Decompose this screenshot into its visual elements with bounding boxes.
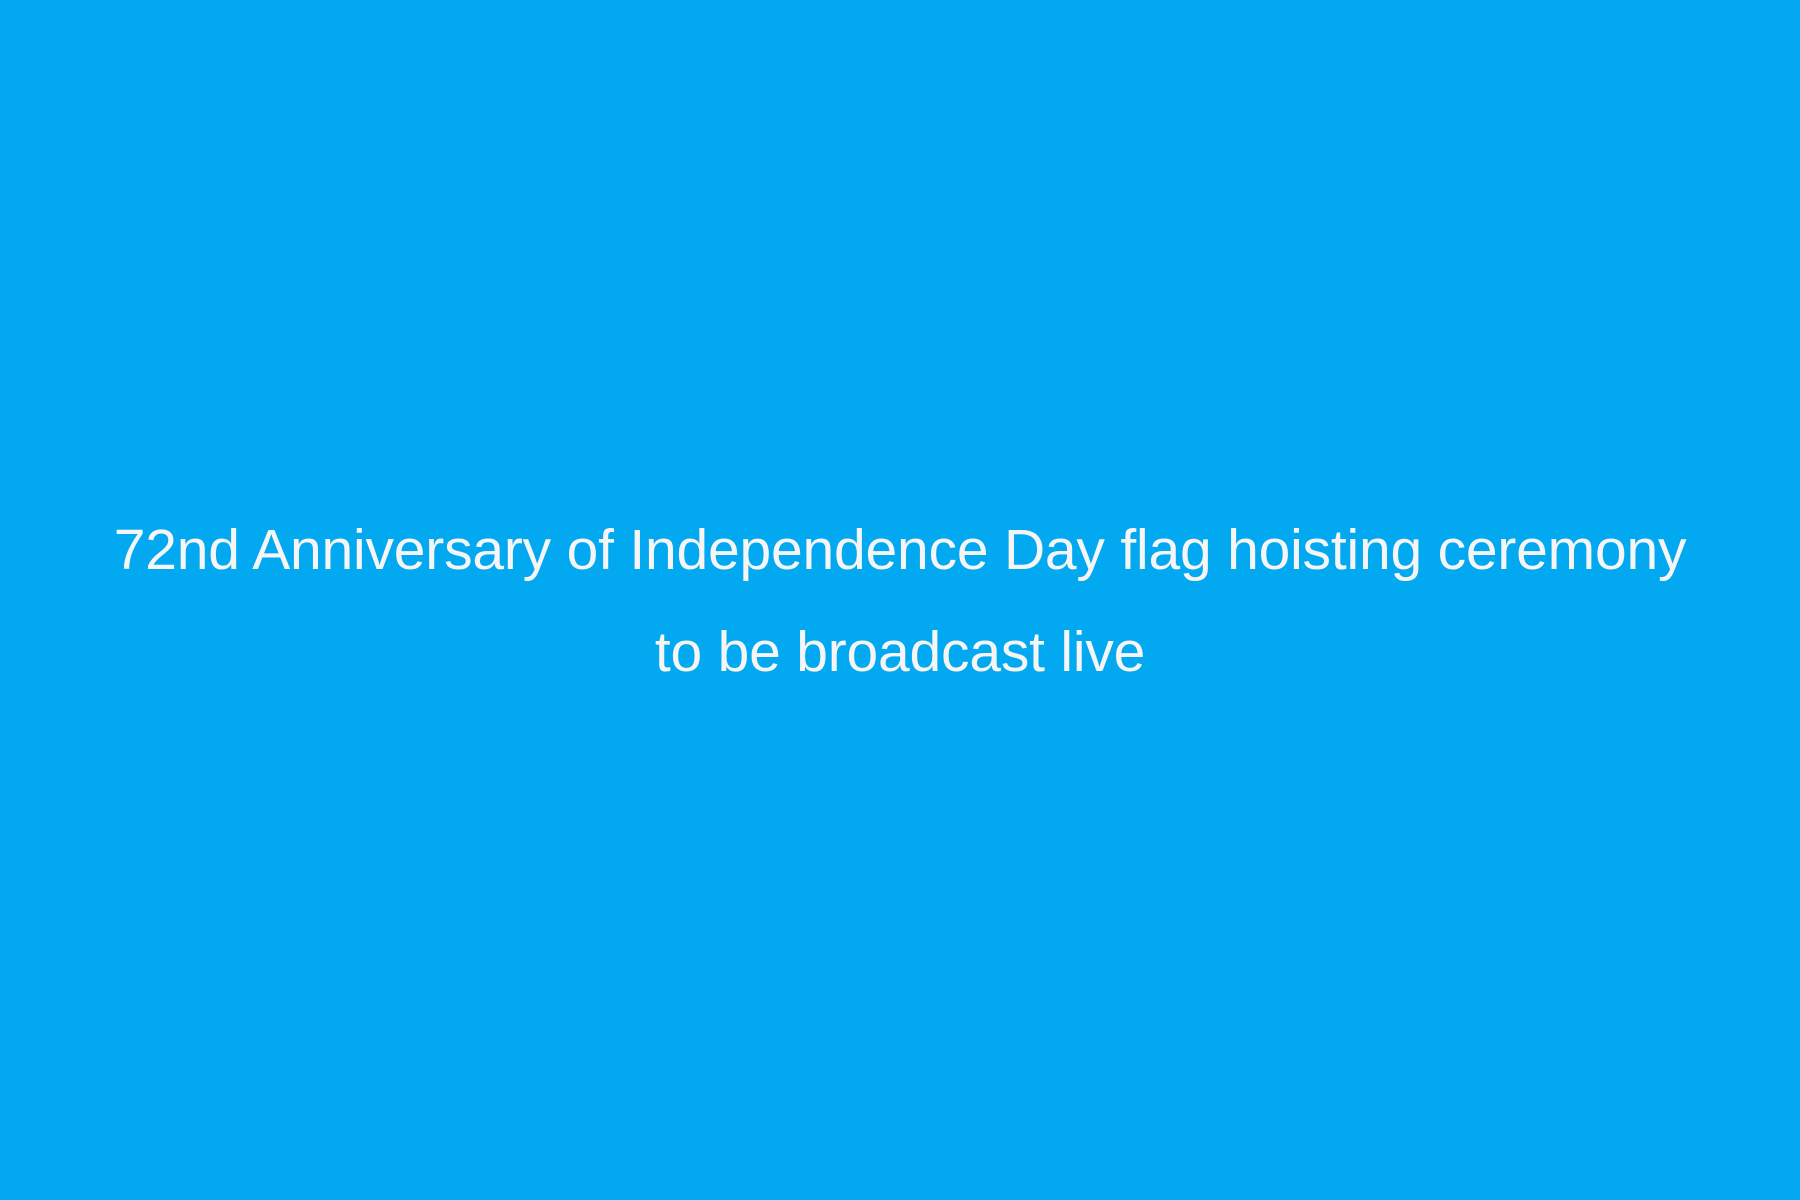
headline-line-2: to be broadcast live bbox=[100, 601, 1700, 703]
headline-line-1: 72nd Anniversary of Independence Day fla… bbox=[100, 499, 1700, 601]
headline-text-block: 72nd Anniversary of Independence Day fla… bbox=[100, 499, 1700, 703]
headline-banner: 72nd Anniversary of Independence Day fla… bbox=[0, 0, 1800, 1200]
